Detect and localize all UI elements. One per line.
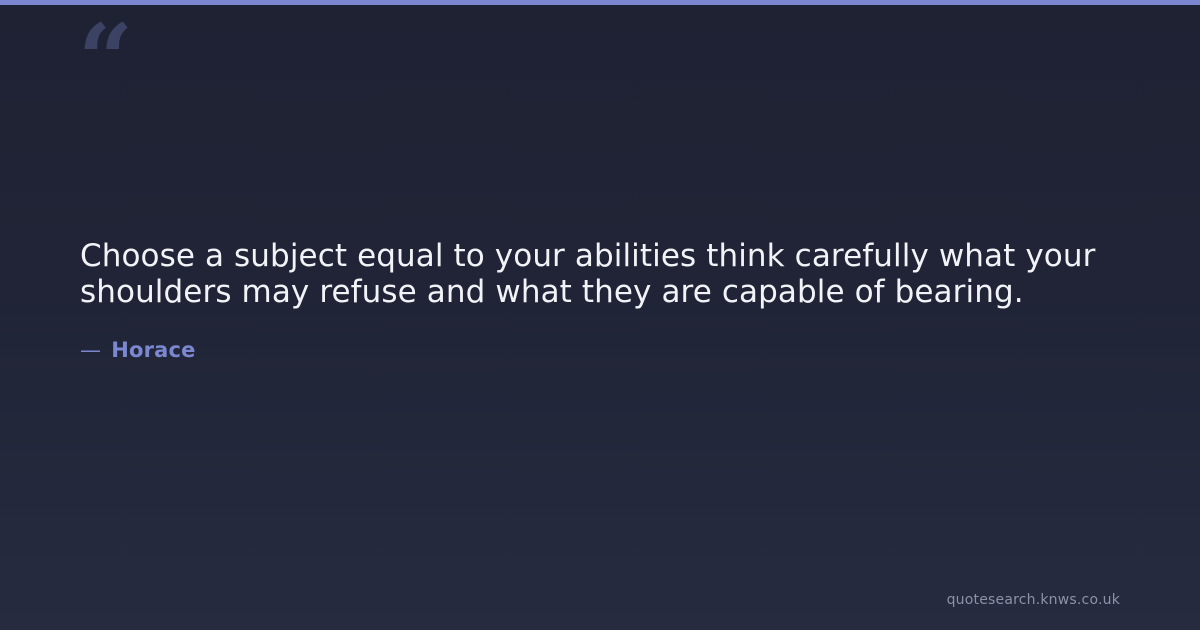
quotation-mark-icon: “: [78, 12, 131, 108]
quote-card: “ Choose a subject equal to your abiliti…: [0, 0, 1200, 630]
quote-content: Choose a subject equal to your abilities…: [80, 238, 1140, 362]
attribution: — Horace: [80, 338, 1140, 362]
quote-text: Choose a subject equal to your abilities…: [80, 238, 1128, 310]
author-name: Horace: [111, 338, 195, 362]
top-accent-bar: [0, 0, 1200, 5]
attribution-dash: —: [80, 338, 101, 362]
site-watermark: quotesearch.knws.co.uk: [947, 592, 1120, 608]
